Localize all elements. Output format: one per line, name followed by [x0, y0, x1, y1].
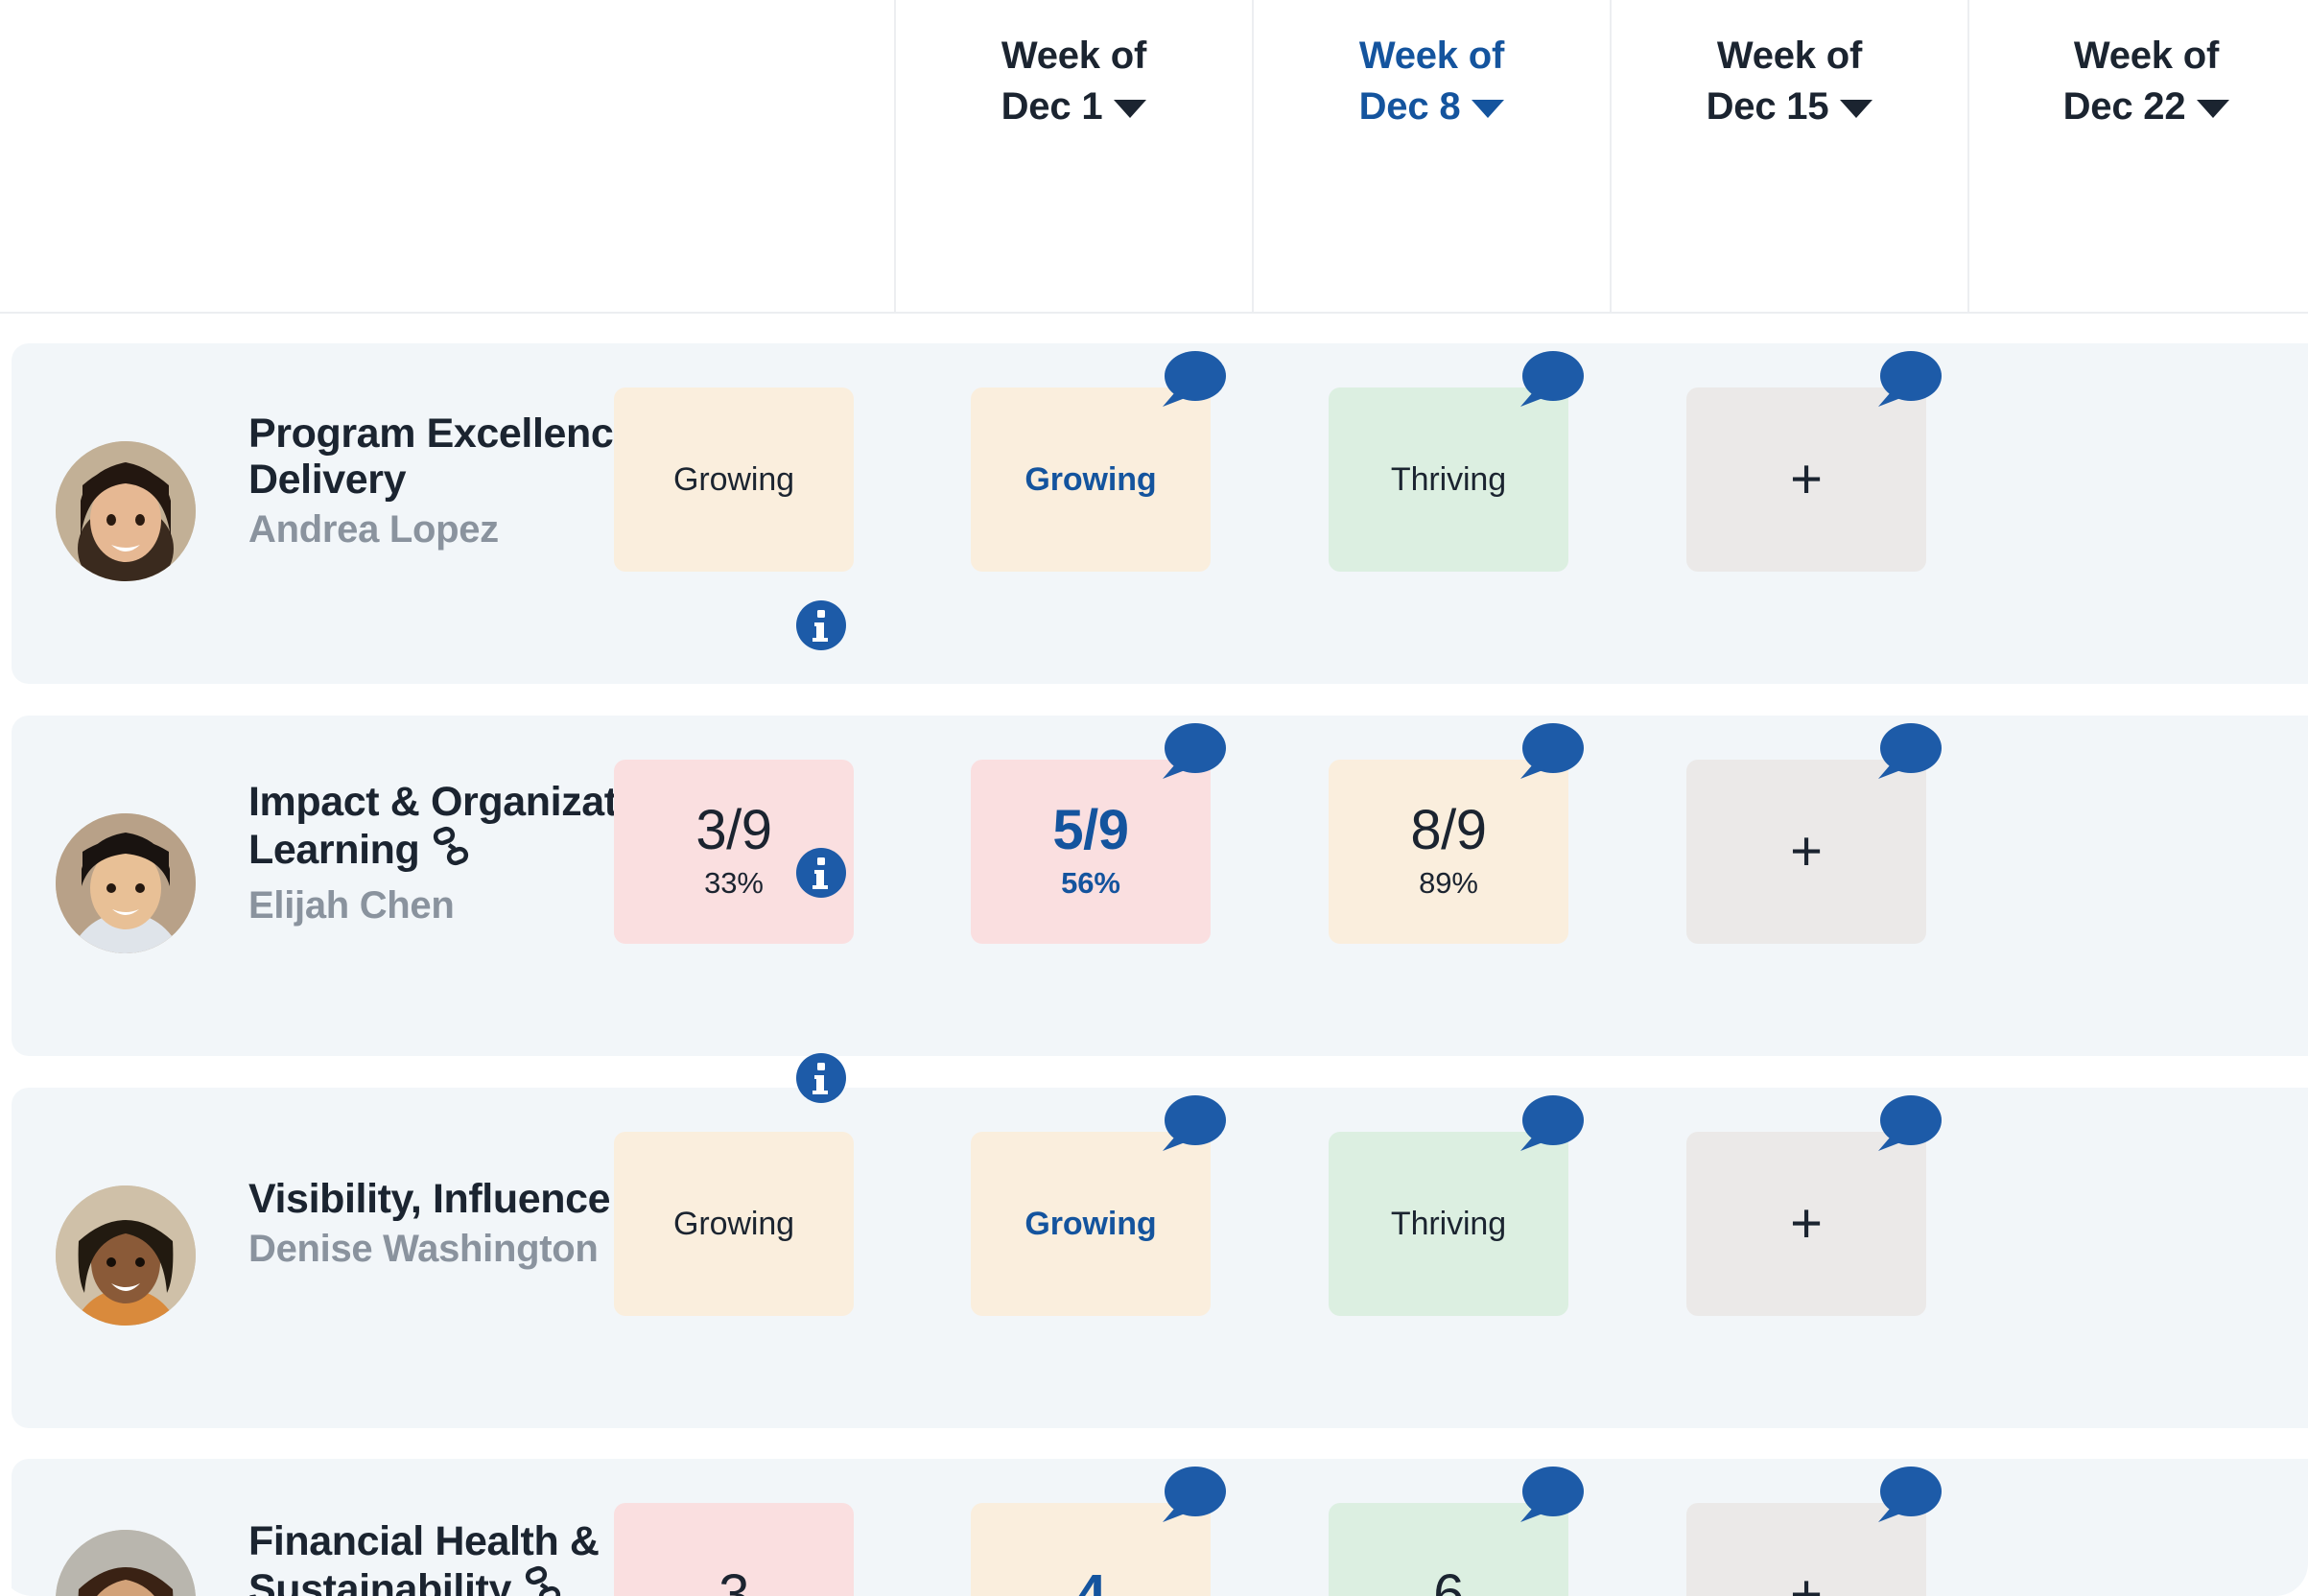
- avatar: [56, 1530, 196, 1596]
- chevron-down-icon[interactable]: [1114, 100, 1146, 118]
- status-label: Growing: [673, 461, 794, 499]
- status-cell[interactable]: Growing: [614, 387, 854, 572]
- metric-number: 3: [718, 1567, 749, 1596]
- plus-icon: +: [1790, 1567, 1823, 1596]
- add-entry-cell[interactable]: +: [1686, 387, 1926, 572]
- link-icon[interactable]: [429, 825, 473, 879]
- column-header-line2: Dec 15: [1707, 82, 1873, 132]
- comment-bubble-icon[interactable]: [1874, 1467, 1943, 1526]
- link-icon[interactable]: [521, 1564, 565, 1596]
- column-header-date: Dec 22: [2063, 82, 2186, 132]
- metric-number: 4: [1075, 1567, 1106, 1596]
- table-header: Week of Dec 1 Week of Dec 8 Week of Dec …: [0, 0, 2308, 314]
- comment-bubble-icon[interactable]: [1517, 723, 1586, 783]
- status-label: Growing: [1024, 1206, 1156, 1243]
- status-label: Thriving: [1391, 461, 1506, 499]
- add-entry-cell[interactable]: +: [1686, 1132, 1926, 1316]
- comment-bubble-icon[interactable]: [1517, 1095, 1586, 1155]
- status-label: Growing: [673, 1206, 794, 1243]
- status-label: Thriving: [1391, 1206, 1506, 1243]
- column-header-date: Dec 15: [1707, 82, 1829, 132]
- metric-percent: 33%: [704, 866, 764, 901]
- comment-bubble-icon[interactable]: [1874, 1095, 1943, 1155]
- comment-bubble-icon[interactable]: [1517, 351, 1586, 411]
- comment-bubble-icon[interactable]: [1874, 723, 1943, 783]
- metric-number: 6: [1433, 1567, 1464, 1596]
- comment-bubble-icon[interactable]: [1159, 723, 1228, 783]
- header-label-column: [0, 0, 894, 312]
- column-header-date: Dec 8: [1359, 82, 1461, 132]
- column-header-line2: Dec 8: [1359, 82, 1505, 132]
- column-header-week-dec-15[interactable]: Week of Dec 15: [1610, 0, 1967, 312]
- chevron-down-icon[interactable]: [2197, 100, 2229, 118]
- comment-bubble-icon[interactable]: [1159, 1467, 1228, 1526]
- plus-icon: +: [1790, 1196, 1823, 1252]
- column-header-date: Dec 1: [1001, 82, 1103, 132]
- status-label: Growing: [1024, 461, 1156, 499]
- comment-bubble-icon[interactable]: [1874, 351, 1943, 411]
- chevron-down-icon[interactable]: [1472, 100, 1504, 118]
- status-cell[interactable]: Growing: [971, 387, 1211, 572]
- column-header-week-dec-8[interactable]: Week of Dec 8: [1252, 0, 1610, 312]
- info-icon[interactable]: [794, 846, 848, 904]
- info-icon[interactable]: [794, 598, 848, 657]
- avatar: [56, 813, 196, 953]
- status-cell[interactable]: Growing: [614, 1132, 854, 1316]
- metric-fraction: 8/9: [1410, 803, 1486, 858]
- avatar: [56, 441, 196, 581]
- metric-percent: 56%: [1061, 866, 1120, 901]
- plus-icon: +: [1790, 452, 1823, 507]
- dashboard-table: Week of Dec 1 Week of Dec 8 Week of Dec …: [0, 0, 2308, 1596]
- add-entry-cell[interactable]: +: [1686, 760, 1926, 944]
- metric-fraction: 5/9: [1052, 803, 1128, 858]
- metric-cell[interactable]: 5/9 56%: [971, 760, 1211, 944]
- status-cell[interactable]: Thriving: [1329, 1132, 1568, 1316]
- metric-cell[interactable]: 8/9 89%: [1329, 760, 1568, 944]
- comment-bubble-icon[interactable]: [1159, 1095, 1228, 1155]
- metric-cell[interactable]: 3: [614, 1503, 854, 1596]
- column-header-week-dec-1[interactable]: Week of Dec 1: [894, 0, 1252, 312]
- column-header-line1: Week of: [2074, 31, 2219, 82]
- plus-icon: +: [1790, 824, 1823, 880]
- info-icon[interactable]: [794, 1051, 848, 1110]
- status-cell[interactable]: Growing: [971, 1132, 1211, 1316]
- metric-percent: 89%: [1419, 866, 1478, 901]
- column-header-line2: Dec 1: [1001, 82, 1147, 132]
- column-header-line1: Week of: [1359, 31, 1504, 82]
- avatar: [56, 1185, 196, 1326]
- metric-fraction: 3/9: [695, 803, 771, 858]
- comment-bubble-icon[interactable]: [1517, 1467, 1586, 1526]
- status-cell[interactable]: Thriving: [1329, 387, 1568, 572]
- column-header-line2: Dec 22: [2063, 82, 2230, 132]
- comment-bubble-icon[interactable]: [1159, 351, 1228, 411]
- column-header-line1: Week of: [1001, 31, 1146, 82]
- column-header-week-dec-22[interactable]: Week of Dec 22: [1967, 0, 2308, 312]
- chevron-down-icon[interactable]: [1840, 100, 1872, 118]
- column-header-line1: Week of: [1717, 31, 1862, 82]
